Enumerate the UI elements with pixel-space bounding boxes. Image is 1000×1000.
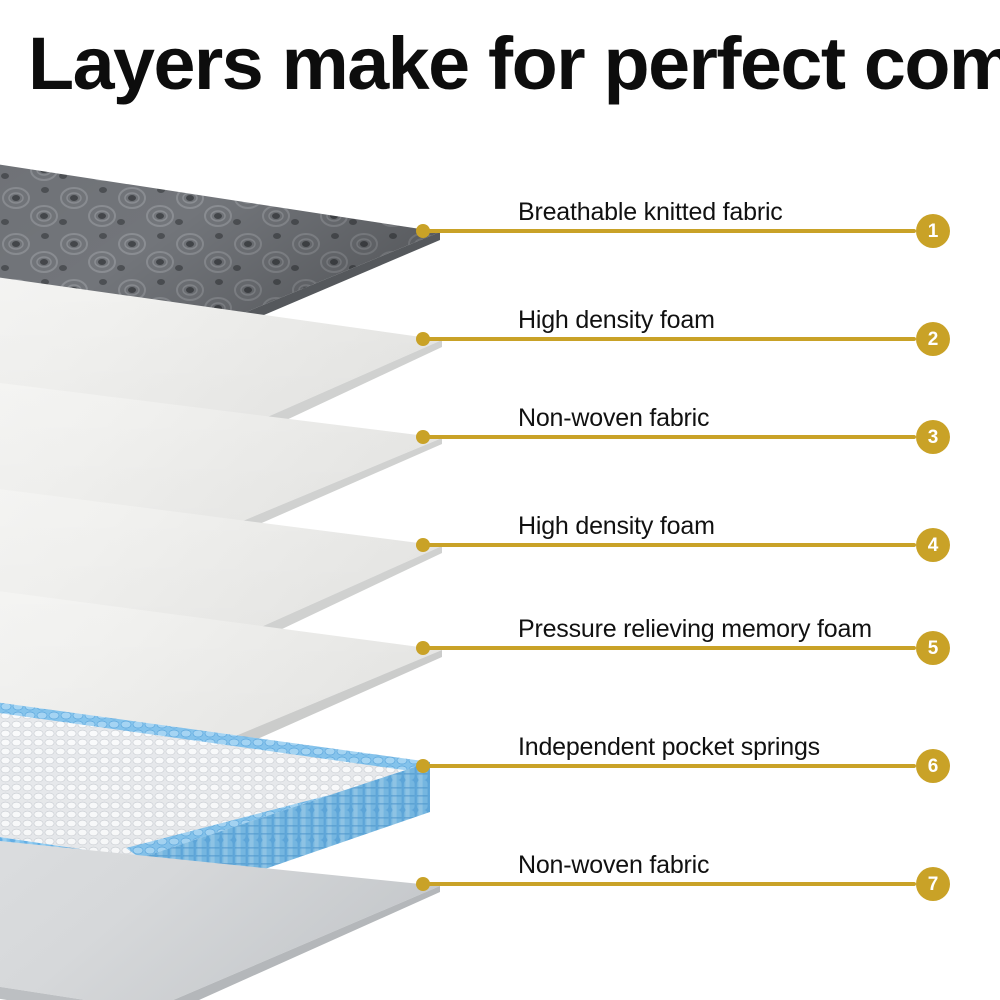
layer-non-woven-fabric-base (0, 840, 440, 1000)
leader-line-1 (423, 229, 916, 233)
callout-badge-1[interactable]: 1 (916, 214, 950, 248)
leader-line-6 (423, 764, 916, 768)
mattress-illustration (0, 0, 1000, 1000)
leader-line-7 (423, 882, 916, 886)
leader-line-5 (423, 646, 916, 650)
leader-line-4 (423, 543, 916, 547)
leader-line-2 (423, 337, 916, 341)
callout-badge-6[interactable]: 6 (916, 749, 950, 783)
callout-label-2: High density foam (518, 306, 715, 335)
callout-label-5: Pressure relieving memory foam (518, 615, 872, 644)
callout-label-7: Non-woven fabric (518, 851, 709, 880)
callout-badge-4[interactable]: 4 (916, 528, 950, 562)
callout-label-3: Non-woven fabric (518, 404, 709, 433)
callout-badge-5[interactable]: 5 (916, 631, 950, 665)
callout-label-1: Breathable knitted fabric (518, 198, 783, 227)
leader-line-3 (423, 435, 916, 439)
callout-badge-7[interactable]: 7 (916, 867, 950, 901)
callout-badge-2[interactable]: 2 (916, 322, 950, 356)
callout-label-6: Independent pocket springs (518, 733, 820, 762)
callout-label-4: High density foam (518, 512, 715, 541)
callout-badge-3[interactable]: 3 (916, 420, 950, 454)
mattress-layers-infographic: Layers make for perfect comfort (0, 0, 1000, 1000)
